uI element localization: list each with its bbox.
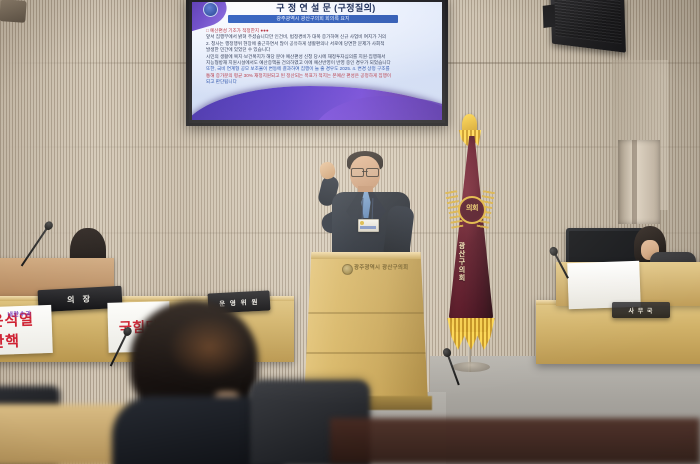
glasses-icon [351,168,379,175]
speaker-mount [543,4,556,28]
ceremonial-council-flag: 의회 광산구의회 [438,122,502,372]
foreground-rail-blurred [330,418,700,464]
slide-subtitle-bar: 광주광역시 광산구의회 회의록 요지 [228,15,398,23]
wall-seam [0,146,700,148]
wall-alcove [618,140,660,224]
podium-seam [304,312,428,314]
flag-cloth [449,136,493,332]
badge-photo [360,221,364,225]
resting-arm [383,205,415,258]
badge-stripe [360,226,376,229]
nameplate-far: 사 무 국 [612,302,670,318]
protest-sign-left-top: 내란수괴 [0,308,46,319]
flag-vertical-text: 광산구의회 [452,242,466,300]
slide-title: 구 정 연 설 문 (구정질의) [226,2,426,14]
loudspeaker-icon [550,0,626,53]
speaker-grill [554,0,621,44]
lens-left [351,168,364,177]
speaking-councillor [316,150,426,258]
flag-stand [452,362,490,372]
podium-top-edge [304,252,428,259]
council-logo-icon [203,2,218,17]
council-emblem-icon [342,264,353,275]
protest-sign-left: 내란수괴 윤석열 탄핵 [0,305,53,355]
podium-label: 광주광역시 광산구의회 [354,264,422,273]
door-jamb [632,140,637,224]
slide-body-text: □ 예산편성 기조가 적정한지 ●●● 앞서 집행부에서 밝혀 주셨습니다만 인… [206,28,426,86]
council-chamber-photo: 구 정 연 설 문 (구정질의) 광주광역시 광산구의회 회의록 요지 □ 예산… [0,0,700,464]
flag-emblem: 의회 [458,196,486,224]
projection-screen: 구 정 연 설 문 (구정질의) 광주광역시 광산구의회 회의록 요지 □ 예산… [186,0,448,126]
lanyard [362,198,374,220]
lens-right [366,168,379,177]
id-badge [358,219,379,232]
ceiling-light-fixture [0,0,27,23]
slide-line: 되고 판단됩니다 [206,79,426,85]
flag-bottom-fringe [444,318,498,350]
podium-seam [304,352,428,354]
presentation-slide: 구 정 연 설 문 (구정질의) 광주광역시 광산구의회 회의록 요지 □ 예산… [192,2,442,120]
